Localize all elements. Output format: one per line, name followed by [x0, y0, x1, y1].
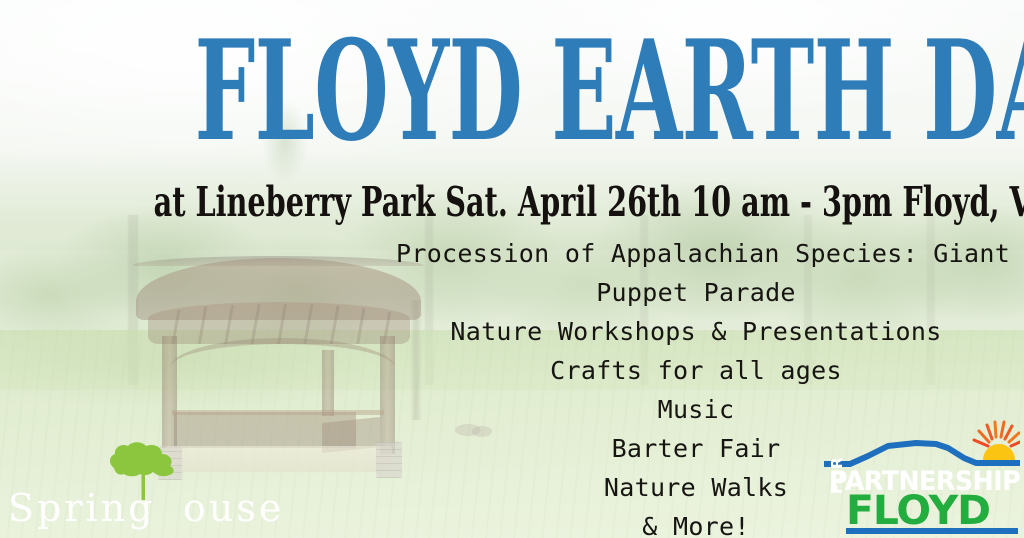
list-item: Crafts for all ages — [396, 351, 996, 390]
list-item: Nature Workshops & Presentations — [396, 312, 996, 351]
springhouse-wordmark: Springhouse — [8, 486, 284, 530]
springhouse-text-part: ouse — [183, 486, 284, 530]
partnership-for-floyd-logo: PARTNERSHIP FOR FLOYD — [824, 416, 1020, 534]
pff-baseline-rule — [846, 528, 1018, 534]
list-item: Procession of Appalachian Species: Giant — [396, 234, 996, 273]
springhouse-text-part: Sprin — [8, 486, 128, 530]
mountain-ridge-icon — [824, 416, 1020, 470]
sun-icon — [974, 422, 1020, 460]
list-item: Puppet Parade — [396, 273, 996, 312]
earth-day-poster: FLOYD EARTH DAY at Lineberry Park Sat. A… — [0, 0, 1024, 538]
springhouse-text-h: h — [155, 486, 182, 530]
springhouse-text-part: g — [128, 486, 155, 530]
springhouse-logo: Springhouse — [8, 440, 258, 530]
pff-for-text: FOR — [828, 456, 846, 494]
page-title: FLOYD EARTH DAY — [195, 22, 830, 160]
poster-content: FLOYD EARTH DAY at Lineberry Park Sat. A… — [0, 0, 1024, 538]
event-subtitle: at Lineberry Park Sat. April 26th 10 am … — [154, 182, 871, 223]
